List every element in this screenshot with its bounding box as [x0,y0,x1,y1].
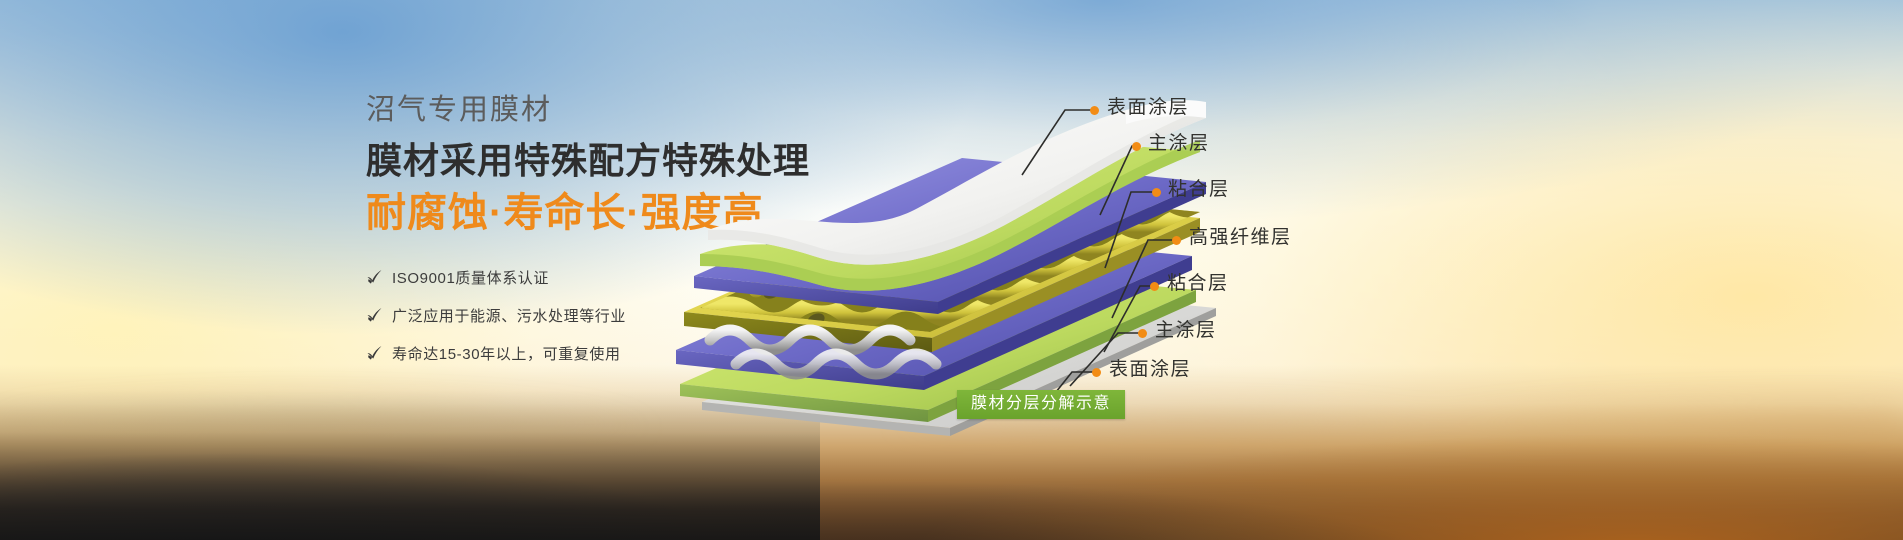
check-icon [366,345,383,362]
check-icon [366,307,383,324]
check-icon [366,269,383,286]
feature-label: ISO9001质量体系认证 [392,267,549,288]
feature-label: 寿命达15-30年以上，可重复使用 [392,343,621,364]
diagram-caption-badge: 膜材分层分解示意 [957,390,1125,419]
feature-label: 广泛应用于能源、污水处理等行业 [392,305,626,326]
promo-banner: 沼气专用膜材 膜材采用特殊配方特殊处理 耐腐蚀·寿命长·强度高 ISO9001质… [0,0,1903,540]
